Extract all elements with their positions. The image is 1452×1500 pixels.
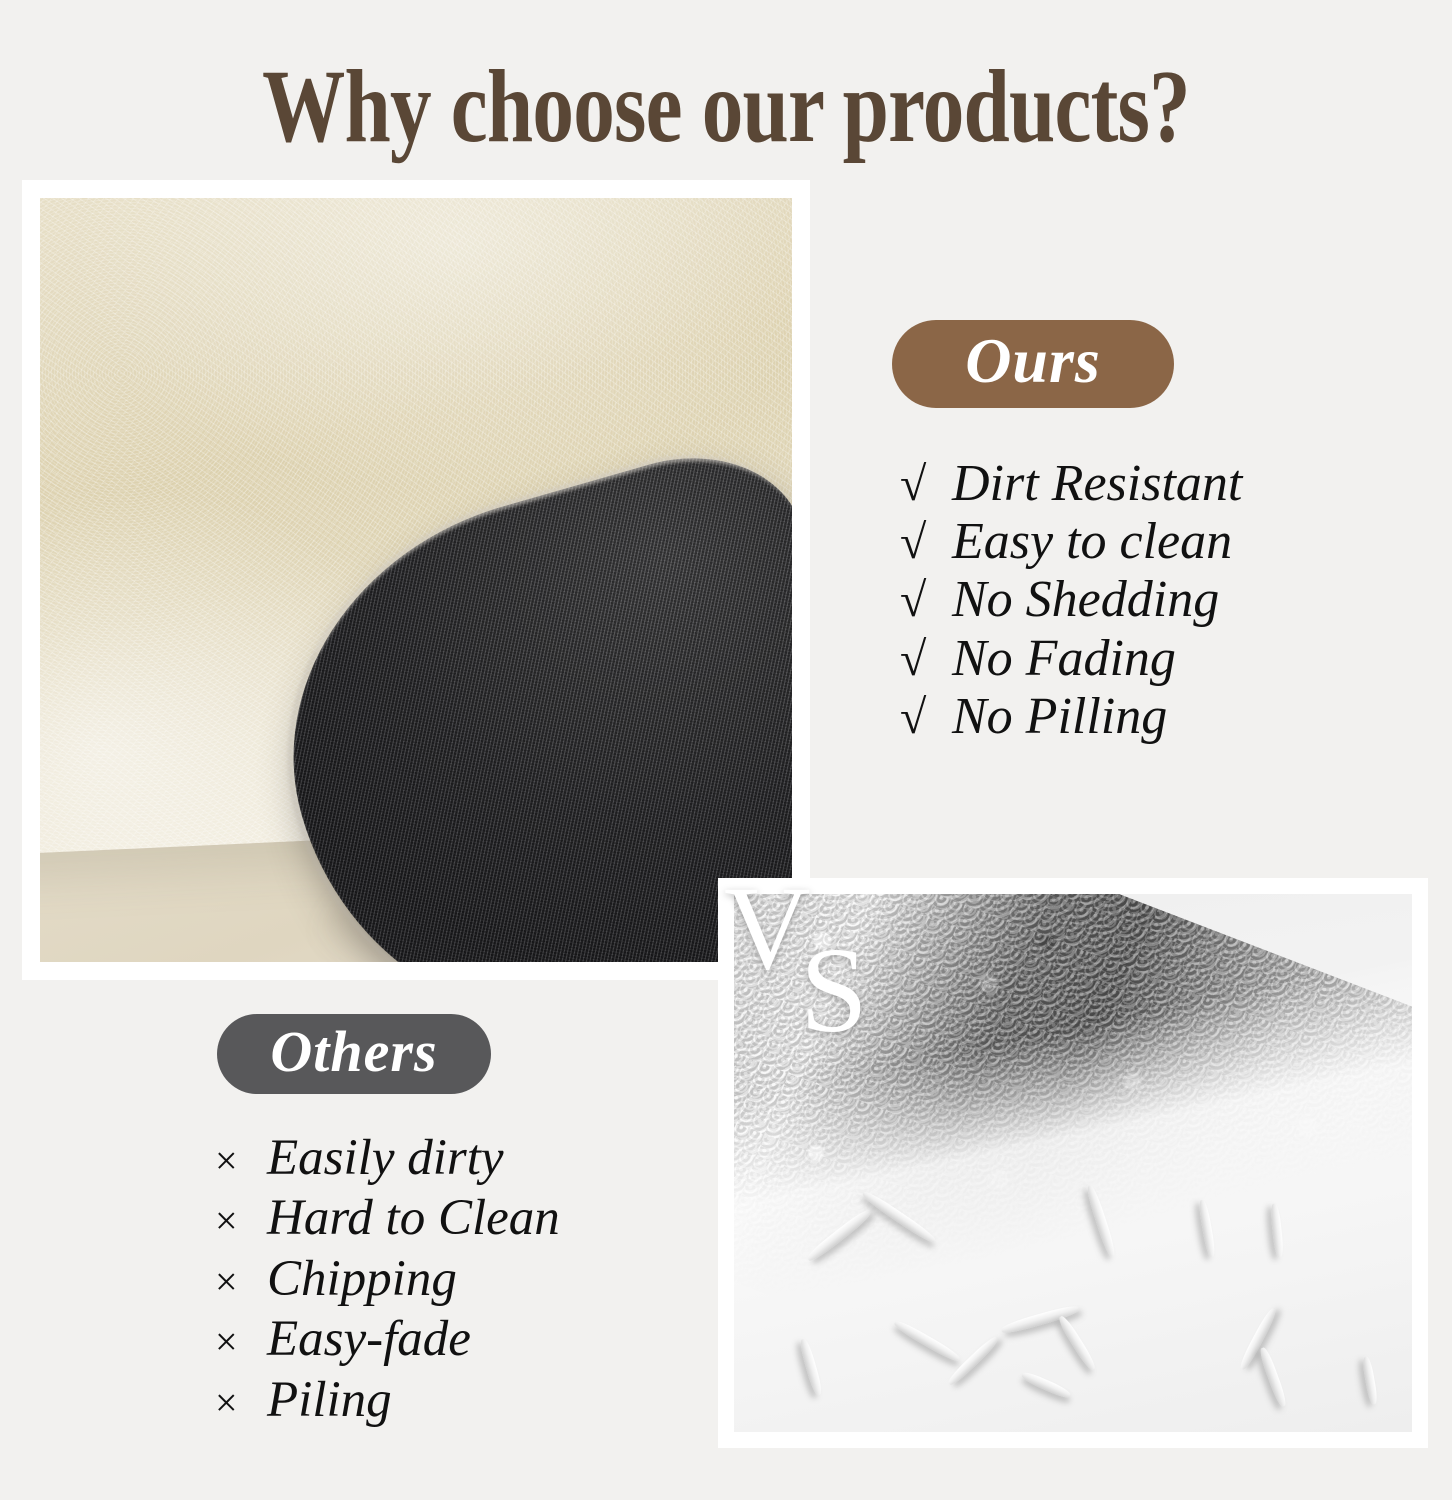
check-icon: √	[900, 516, 952, 570]
check-icon: √	[900, 633, 952, 687]
cross-icon: ×	[215, 1318, 267, 1365]
vs-letter-v: V	[724, 868, 811, 988]
page-title: Why choose our products?	[145, 52, 1307, 161]
ours-product-photo	[22, 180, 810, 980]
cross-icon: ×	[215, 1197, 267, 1244]
cross-icon: ×	[215, 1379, 267, 1426]
feature-label: Dirt Resistant	[952, 455, 1242, 513]
cross-icon: ×	[215, 1137, 267, 1184]
vs-letter-s: S	[800, 930, 868, 1052]
feature-label: Easy-fade	[267, 1309, 471, 1369]
feature-label: No Fading	[952, 630, 1176, 688]
list-item: √ No Fading	[900, 630, 1242, 688]
feature-label: Hard to Clean	[267, 1188, 560, 1248]
feature-label: Easy to clean	[952, 513, 1232, 571]
feature-label: Piling	[267, 1370, 392, 1430]
check-icon: √	[900, 458, 952, 512]
list-item: √ No Pilling	[900, 688, 1242, 746]
cross-icon: ×	[215, 1258, 267, 1305]
list-item: × Piling	[215, 1370, 560, 1430]
list-item: √ Dirt Resistant	[900, 455, 1242, 513]
check-icon: √	[900, 691, 952, 745]
list-item: × Hard to Clean	[215, 1188, 560, 1248]
feature-label: Chipping	[267, 1249, 457, 1309]
list-item: √ No Shedding	[900, 571, 1242, 629]
infographic-stage: Why choose our products?	[0, 0, 1452, 1500]
list-item: × Easy-fade	[215, 1309, 560, 1369]
others-feature-list: × Easily dirty × Hard to Clean × Chippin…	[215, 1128, 560, 1430]
feature-label: Easily dirty	[267, 1128, 504, 1188]
ours-badge: Ours	[892, 320, 1174, 408]
feature-label: No Pilling	[952, 688, 1167, 746]
others-badge: Others	[217, 1014, 491, 1094]
list-item: × Chipping	[215, 1249, 560, 1309]
list-item: √ Easy to clean	[900, 513, 1242, 571]
ours-photo-canvas	[40, 198, 792, 962]
check-icon: √	[900, 574, 952, 628]
feature-label: No Shedding	[952, 571, 1219, 629]
shed-fibre	[798, 1338, 824, 1397]
list-item: × Easily dirty	[215, 1128, 560, 1188]
ours-feature-list: √ Dirt Resistant √ Easy to clean √ No Sh…	[900, 455, 1242, 746]
